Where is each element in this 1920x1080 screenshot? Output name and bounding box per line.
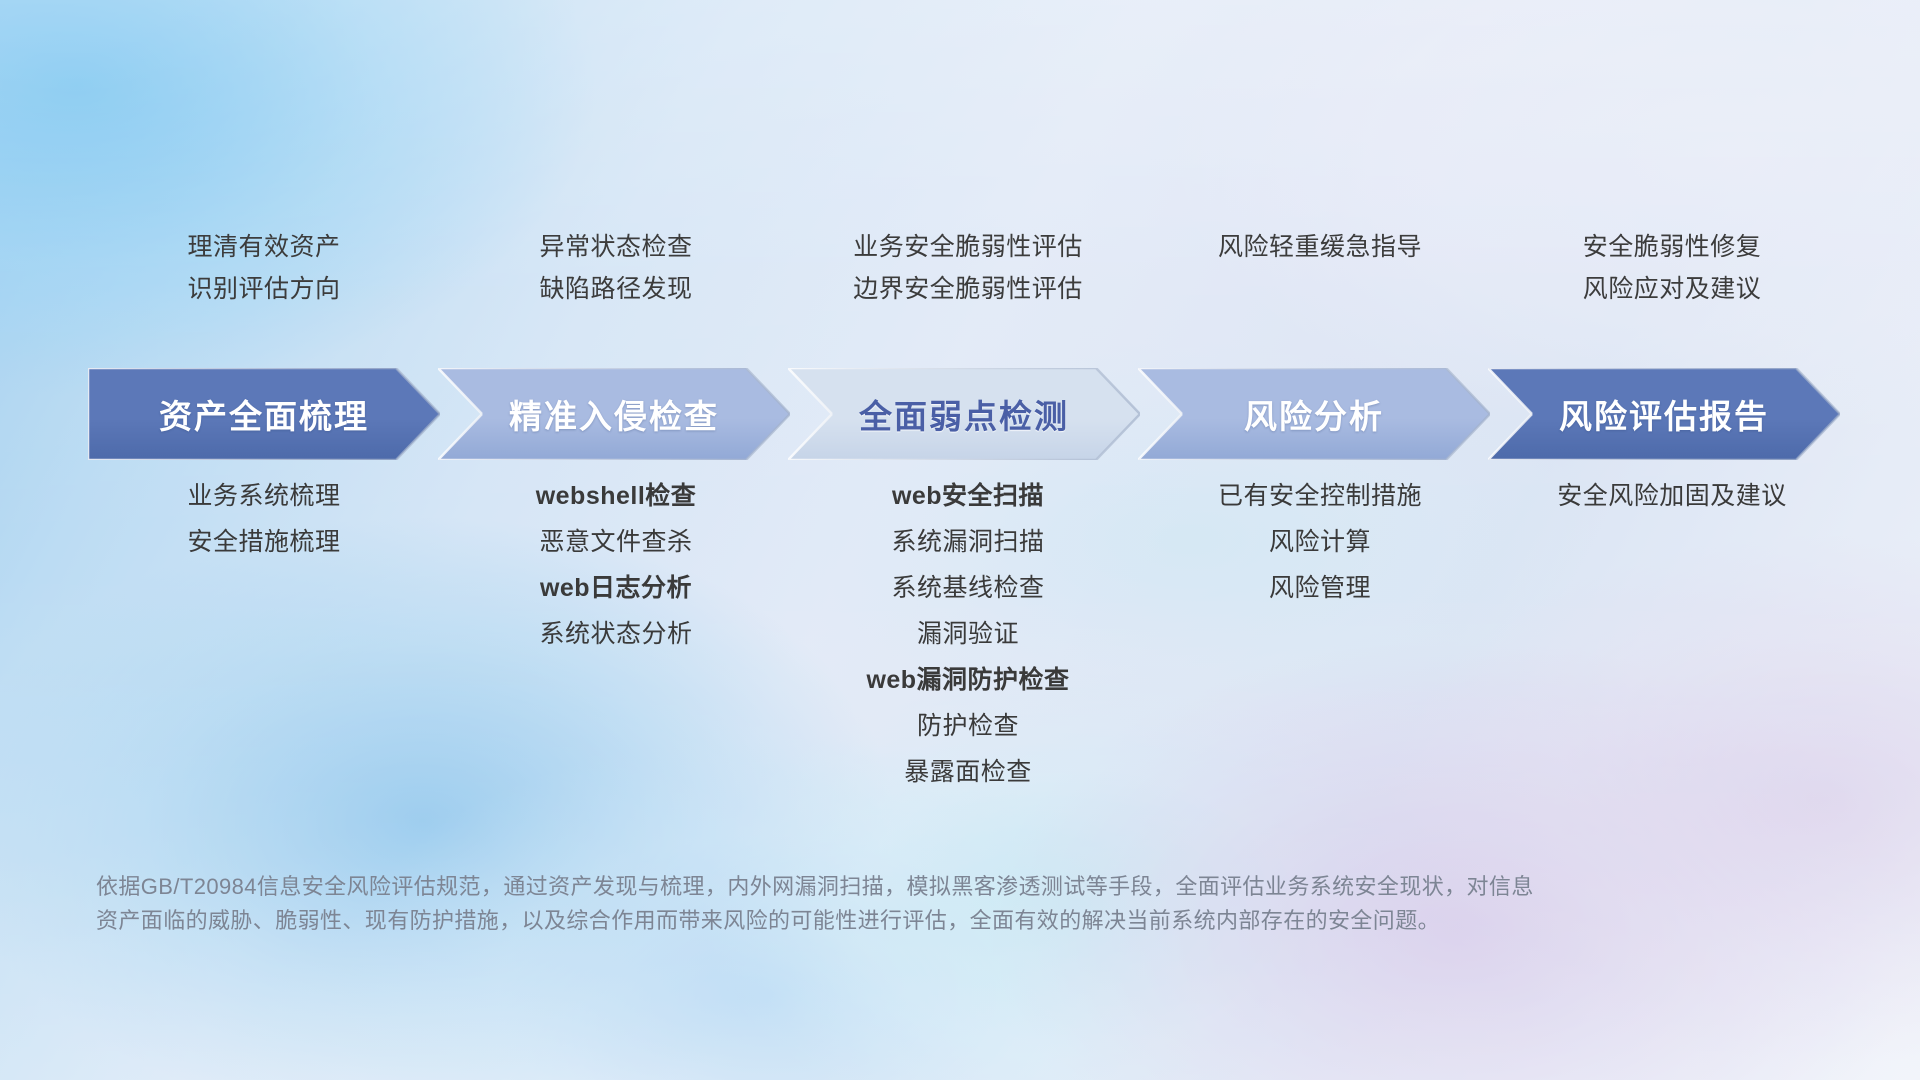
stage-item: 风险管理 [1269,572,1371,604]
stage-item: web安全扫描 [892,480,1044,512]
stage-item: 安全风险加固及建议 [1557,480,1787,512]
stage-item: 安全措施梳理 [187,526,340,558]
top-note: 缺陷路径发现 [539,274,692,304]
top-note: 安全脆弱性修复 [1583,232,1762,262]
process-step-1[interactable]: 资产全面梳理 [88,368,440,460]
process-step-5[interactable]: 风险评估报告 [1488,368,1840,460]
process-step-3[interactable]: 全面弱点检测 [788,368,1140,460]
process-step-label: 全面弱点检测 [859,390,1069,438]
stage-item: 风险计算 [1269,526,1371,558]
process-step-4[interactable]: 风险分析 [1138,368,1490,460]
process-step-label: 风险分析 [1244,390,1384,438]
process-chevron-band: 资产全面梳理精准入侵检查全面弱点检测风险分析风险评估报告 [88,368,1848,460]
process-step-label: 精准入侵检查 [509,390,719,438]
stage-item: 系统状态分析 [539,618,692,650]
top-note: 识别评估方向 [187,274,340,304]
stage-items-column-3: web安全扫描系统漏洞扫描系统基线检查漏洞验证web漏洞防护检查防护检查暴露面检… [792,480,1144,788]
stage-detail-lists: 业务系统梳理安全措施梳理webshell检查恶意文件查杀web日志分析系统状态分… [88,480,1848,788]
stage-item: 恶意文件查杀 [539,526,692,558]
process-step-2[interactable]: 精准入侵检查 [438,368,790,460]
top-notes-row: 理清有效资产识别评估方向异常状态检查缺陷路径发现业务安全脆弱性评估边界安全脆弱性… [88,232,1848,342]
top-notes-column-2: 异常状态检查缺陷路径发现 [440,232,792,342]
stage-item: 系统基线检查 [891,572,1044,604]
top-note: 异常状态检查 [539,232,692,262]
stage-item: 防护检查 [917,710,1019,742]
stage-item: webshell检查 [536,480,697,512]
slide-canvas: 理清有效资产识别评估方向异常状态检查缺陷路径发现业务安全脆弱性评估边界安全脆弱性… [0,0,1920,1080]
stage-items-column-1: 业务系统梳理安全措施梳理 [88,480,440,788]
footer-line-1: 依据GB/T20984信息安全风险评估规范，通过资产发现与梳理，内外网漏洞扫描，… [96,870,1636,904]
footer-description: 依据GB/T20984信息安全风险评估规范，通过资产发现与梳理，内外网漏洞扫描，… [96,870,1636,938]
process-step-label: 风险评估报告 [1559,390,1769,438]
footer-line-2: 资产面临的威胁、脆弱性、现有防护措施，以及综合作用而带来风险的可能性进行评估，全… [96,904,1636,938]
process-step-label: 资产全面梳理 [159,390,369,438]
stage-item: 暴露面检查 [904,756,1032,788]
slide-content: 理清有效资产识别评估方向异常状态检查缺陷路径发现业务安全脆弱性评估边界安全脆弱性… [0,0,1920,1080]
top-note: 业务安全脆弱性评估 [853,232,1083,262]
top-notes-column-5: 安全脆弱性修复风险应对及建议 [1496,232,1848,342]
stage-item: 业务系统梳理 [187,480,340,512]
stage-item: web日志分析 [540,572,692,604]
stage-item: 漏洞验证 [917,618,1019,650]
top-note: 风险轻重缓急指导 [1218,232,1422,262]
stage-items-column-2: webshell检查恶意文件查杀web日志分析系统状态分析 [440,480,792,788]
stage-item: 系统漏洞扫描 [891,526,1044,558]
top-note: 边界安全脆弱性评估 [853,274,1083,304]
stage-item: 已有安全控制措施 [1218,480,1422,512]
top-notes-column-3: 业务安全脆弱性评估边界安全脆弱性评估 [792,232,1144,342]
stage-item: web漏洞防护检查 [866,664,1069,696]
top-note: 理清有效资产 [187,232,340,262]
top-note: 风险应对及建议 [1583,274,1762,304]
stage-items-column-4: 已有安全控制措施风险计算风险管理 [1144,480,1496,788]
top-notes-column-4: 风险轻重缓急指导 [1144,232,1496,342]
stage-items-column-5: 安全风险加固及建议 [1496,480,1848,788]
top-notes-column-1: 理清有效资产识别评估方向 [88,232,440,342]
